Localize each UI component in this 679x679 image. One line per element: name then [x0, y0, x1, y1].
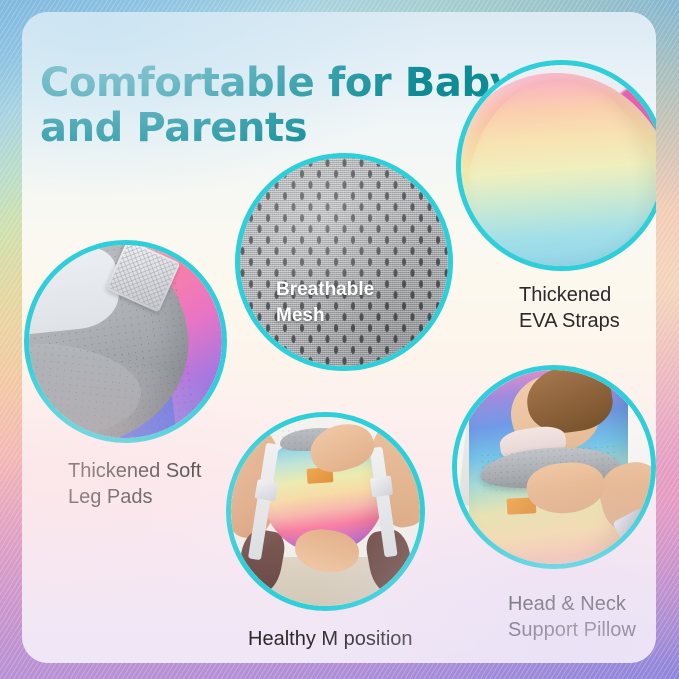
feature-eva-straps: Thickened EVA Straps	[456, 60, 656, 271]
content-card: Comfortable for Baby and Parents Breatha…	[22, 12, 656, 663]
m-position-caption: Healthy M position	[248, 626, 413, 652]
head-neck-image	[457, 370, 651, 564]
feature-breathable-mesh: Breathable Mesh	[235, 153, 453, 371]
m-position-image	[231, 417, 420, 606]
breathable-mesh-overlay-label: Breathable Mesh	[276, 277, 374, 328]
feature-leg-pads: Thickened Soft Leg Pads	[24, 240, 227, 443]
feature-m-position: Healthy M position	[226, 412, 425, 611]
eva-straps-image	[461, 65, 656, 266]
leg-pads-mesh-fold	[29, 337, 145, 438]
leg-pads-caption: Thickened Soft Leg Pads	[68, 458, 201, 511]
carrier-left-buckle	[254, 480, 278, 502]
breathable-mesh-photo-circle: Breathable Mesh	[235, 153, 453, 371]
breathable-mesh-image	[240, 158, 448, 366]
leg-pads-photo-circle	[24, 240, 227, 443]
head-neck-photo-circle	[452, 365, 656, 569]
mesh-shading-layer	[240, 158, 448, 366]
feature-head-neck-pillow: Head & Neck Support Pillow	[452, 365, 656, 569]
m-position-photo-circle	[226, 412, 425, 611]
head-neck-caption: Head & Neck Support Pillow	[508, 591, 636, 644]
eva-straps-photo-circle	[456, 60, 656, 271]
leg-pads-image	[29, 245, 222, 438]
infographic-stage: Comfortable for Baby and Parents Breatha…	[0, 0, 679, 679]
eva-straps-caption: Thickened EVA Straps	[519, 282, 620, 335]
carrier-right-buckle	[370, 476, 393, 498]
